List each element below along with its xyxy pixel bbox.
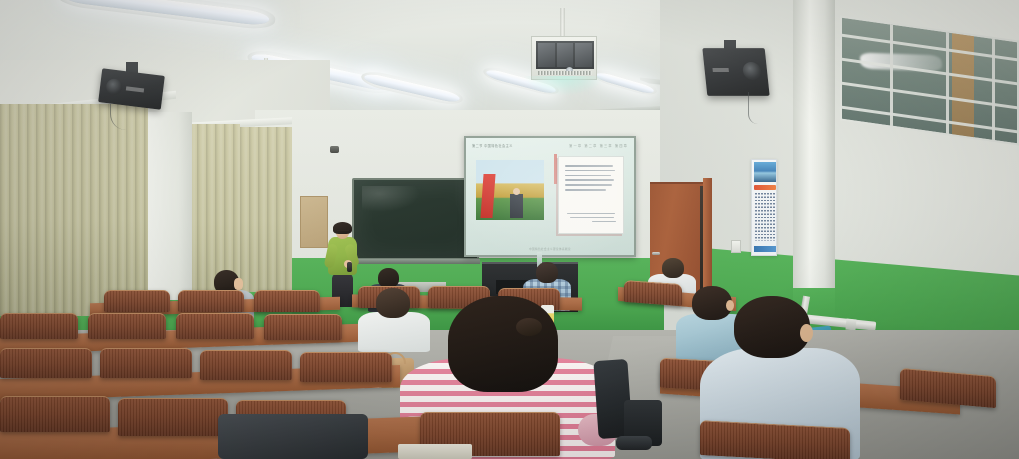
door-handle[interactable] xyxy=(652,252,660,255)
poster-text-column xyxy=(773,193,774,241)
student-hair-bun xyxy=(448,296,558,392)
projector-panel-right xyxy=(575,43,592,67)
presenter-glasses xyxy=(337,230,349,233)
student-shoe xyxy=(616,436,652,450)
student-ear xyxy=(800,324,813,342)
lecture-chair xyxy=(104,290,170,312)
poster-text-column xyxy=(755,193,756,241)
slide-body-text xyxy=(565,165,617,194)
support-pillar-right xyxy=(793,0,835,330)
student-head xyxy=(662,258,684,278)
wall-sensor xyxy=(330,146,339,153)
slide-text-line xyxy=(565,179,614,181)
slide-attrib-line xyxy=(567,213,615,215)
wall-speaker-right xyxy=(702,48,769,96)
projector-security-cage xyxy=(531,36,597,80)
door-frame xyxy=(703,178,712,294)
lecture-chair xyxy=(300,352,392,382)
slide-photo xyxy=(476,160,544,220)
speaker-label-left xyxy=(126,86,144,92)
window-curtain-far-left[interactable] xyxy=(0,104,148,316)
poster-text-columns xyxy=(755,193,775,241)
student-hair-tie xyxy=(516,318,542,336)
student-head xyxy=(734,296,810,358)
slide-figure-body xyxy=(510,194,523,218)
poster-footer-banner xyxy=(754,246,776,252)
lecture-chair xyxy=(88,313,166,339)
chinese-flag-graphic xyxy=(480,174,495,218)
projector-panel-middle xyxy=(557,43,574,67)
student-head xyxy=(378,268,399,288)
poster-text-column xyxy=(764,193,765,241)
speaker-cone-left xyxy=(105,78,123,96)
lecture-chair xyxy=(200,350,292,380)
window-bar-v xyxy=(992,39,995,144)
handheld-microphone xyxy=(347,262,352,272)
lecture-chair xyxy=(178,290,244,312)
lecture-chair xyxy=(0,396,110,432)
lecture-chair xyxy=(700,420,850,459)
lecture-chair xyxy=(0,313,78,339)
lecture-chair xyxy=(0,348,92,378)
poster-text-column xyxy=(770,193,771,241)
slide-footer-text: 中国特色社会主义理论体系概论 xyxy=(466,247,634,251)
wall-poster xyxy=(751,159,777,256)
poster-text-column xyxy=(761,193,762,241)
poster-title-banner xyxy=(754,185,776,190)
classroom-photo: 第二节 中国特色社会主义 第一章 第二章 第三章 第四章 xyxy=(0,0,1019,459)
window-bar-v xyxy=(946,32,949,137)
slide-attrib-line xyxy=(570,217,614,219)
slide-attribution xyxy=(567,213,617,225)
lecture-chair xyxy=(118,398,228,436)
blackboard-glare xyxy=(362,186,420,212)
slide-speaker-figure xyxy=(510,188,523,218)
chalk-tray xyxy=(352,259,480,264)
projector-light-glow xyxy=(523,76,605,96)
student-face-profile xyxy=(234,278,243,290)
speaker-label-right xyxy=(712,68,729,72)
poster-photo xyxy=(754,162,776,182)
projector-body xyxy=(536,41,594,69)
lecture-chair xyxy=(264,314,342,340)
slide-text-line xyxy=(565,189,606,191)
lecture-chair xyxy=(176,313,254,339)
lecture-chair xyxy=(254,290,320,312)
window-bar-v xyxy=(890,24,893,129)
slide-header-left: 第二节 中国特色社会主义 xyxy=(472,143,513,148)
projection-screen: 第二节 中国特色社会主义 第一章 第二章 第三章 第四章 xyxy=(464,136,636,257)
speaker-cone-right xyxy=(742,62,762,80)
slide-header-right: 第一章 第二章 第三章 第四章 xyxy=(569,143,628,148)
speaker-cable-right xyxy=(748,92,758,124)
student-head xyxy=(536,262,558,283)
slide-text-line xyxy=(565,165,613,167)
projector-vent-grille xyxy=(538,71,592,75)
slide-accent-bar xyxy=(554,154,557,184)
blackboard xyxy=(352,178,479,260)
slide-figure-head xyxy=(513,188,520,195)
poster-text-column xyxy=(767,193,768,241)
lecture-chair xyxy=(100,348,192,378)
projector-mount-pole xyxy=(560,8,565,38)
slide-text-line xyxy=(565,175,611,177)
wall-outlet-plate xyxy=(731,240,741,253)
projector-panel-left xyxy=(538,43,555,67)
slide-attrib-line xyxy=(592,221,616,223)
dark-jacket-on-desk xyxy=(218,414,368,459)
slide-text-line xyxy=(565,184,612,186)
poster-text-column xyxy=(758,193,759,241)
notebook-on-desk xyxy=(398,444,472,459)
slide-text-line xyxy=(565,170,615,172)
slide-text-panel xyxy=(558,156,624,234)
lecture-chair xyxy=(624,280,682,306)
projected-slide: 第二节 中国特色社会主义 第一章 第二章 第三章 第四章 xyxy=(466,138,634,255)
